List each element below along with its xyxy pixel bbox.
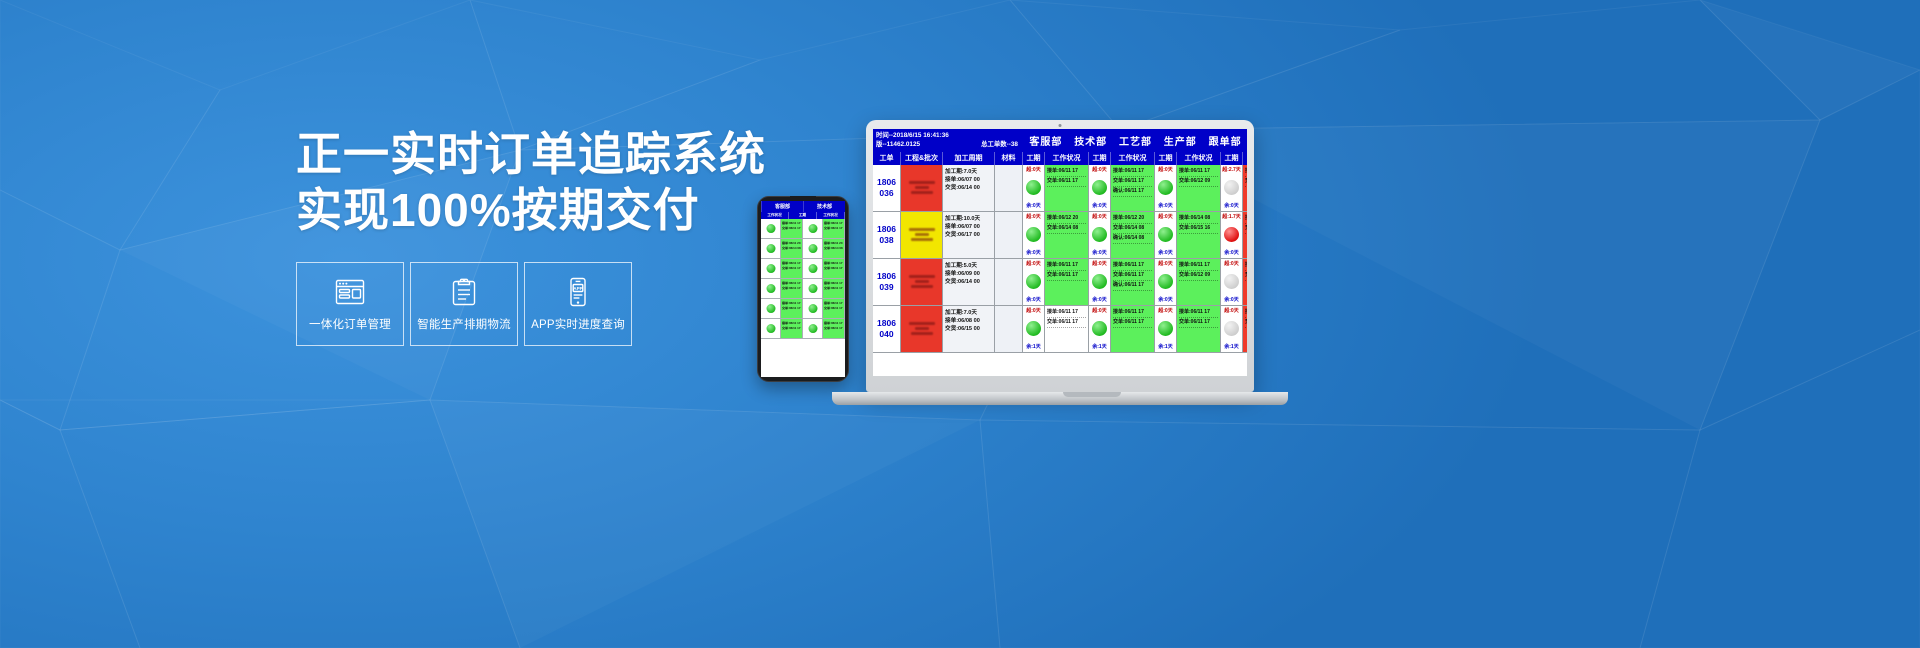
work-order-prefix: 1806: [877, 177, 896, 188]
work-order-suffix: 038: [879, 235, 893, 246]
phone-table-row[interactable]: 接单:06/11 17交单:06/11 17接单:06/11 17交单:06/1…: [761, 219, 845, 239]
over-days-tag: 超:0天: [1023, 167, 1044, 173]
phone-status-line-1: 交单:06/11 17: [824, 226, 843, 231]
redacted-text: [909, 228, 935, 231]
status-line-1: 交单:: [1245, 224, 1247, 234]
department-header-4: 跟单部: [1202, 129, 1247, 152]
status-line-1: 交单:: [1245, 177, 1247, 187]
over-days-tag: 超:0天: [1023, 261, 1044, 267]
over-days-tag: 超:0天: [1155, 308, 1176, 314]
status-line-1: 交单:06/12 09: [1179, 271, 1218, 281]
status-indicator-green[interactable]: [808, 284, 817, 293]
status-line-1: 交单:06/12 09: [1179, 177, 1218, 187]
status-line-0: 接单:06/12 20: [1047, 214, 1086, 224]
status-indicator-green[interactable]: [766, 284, 775, 293]
cell-project-batch: [901, 165, 943, 211]
feature-item-order-management[interactable]: 一体化订单管理: [296, 262, 404, 346]
status-line-0: 接单:06/11 17: [1113, 167, 1152, 177]
cell-duration-3: 超:0天余:0天: [1221, 259, 1243, 305]
redacted-text: [915, 327, 929, 330]
status-line-0: 接单:06/14 08: [1179, 214, 1218, 224]
cell-duration-1: 超:0天余:0天: [1089, 259, 1111, 305]
phone-col-header-2: 工作状况: [817, 212, 845, 219]
cell-status-3: 接单:06/15 16交单:: [1243, 212, 1247, 258]
phone-status-indicator-cell-2: [803, 259, 823, 278]
phone-col-header-0: 工作状况: [761, 212, 789, 219]
cell-duration-2: 超:0天余:0天: [1155, 165, 1177, 211]
status-indicator-red[interactable]: [1224, 227, 1239, 242]
status-indicator-green[interactable]: [766, 224, 775, 233]
phone-department-0: 客服部: [761, 201, 803, 212]
phone-status-cell: 接单:06/11 17交单:06/11 17: [781, 259, 803, 278]
cell-duration-0: 超:0天余:0天: [1023, 259, 1045, 305]
department-header-2: 工艺部: [1113, 129, 1158, 152]
phone-status-indicator-cell: [761, 259, 781, 278]
rest-days-tag: 余:0天: [1155, 297, 1176, 303]
col-header-duration-3: 工期: [1221, 152, 1243, 165]
rest-days-tag: 余:1天: [1221, 344, 1242, 350]
cell-duration-0: 超:0天余:0天: [1023, 165, 1045, 211]
status-line-1: 交单:06/11 17: [1113, 177, 1152, 187]
status-indicator-green[interactable]: [1026, 180, 1041, 195]
over-days-tag: 超:0天: [1089, 167, 1110, 173]
phone-body: 客服部技术部 工作状况工期工作状况 接单:06/11 17交单:06/11 17…: [757, 196, 849, 382]
cell-cycle: 加工期:10.0天接单:06/07 00交货:06/17 00: [943, 212, 995, 258]
rest-days-tag: 余:0天: [1155, 203, 1176, 209]
work-order-prefix: 1806: [877, 318, 896, 329]
cell-duration-2: 超:0天余:0天: [1155, 259, 1177, 305]
cycle-line-2: 交货:06/14 00: [945, 278, 992, 286]
laptop-mockup: 时间--2018/6/15 16:41:36 版--11462.0125 总工单…: [866, 120, 1318, 420]
status-indicator-green[interactable]: [1092, 274, 1107, 289]
over-days-tag: 超:0天: [1089, 214, 1110, 220]
phone-status-cell-2: 接单:06/11 17交单:06/11 17: [823, 219, 845, 238]
status-line-2: 确认:06/11 17: [1113, 187, 1152, 197]
status-indicator-green[interactable]: [808, 304, 817, 313]
work-order-suffix: 040: [879, 329, 893, 340]
cell-work-order: 1806038: [873, 212, 901, 258]
dashboard-window-icon: [334, 276, 366, 308]
status-indicator-green[interactable]: [766, 264, 775, 273]
status-indicator-green[interactable]: [766, 304, 775, 313]
status-indicator-green[interactable]: [1158, 321, 1173, 336]
over-days-tag: 超:0天: [1089, 308, 1110, 314]
department-header-3: 生产部: [1157, 129, 1202, 152]
col-header-duration-0: 工期: [1023, 152, 1045, 165]
cell-cycle: 加工期:7.0天接单:06/07 00交货:06/14 00: [943, 165, 995, 211]
status-indicator-grey[interactable]: [1224, 274, 1239, 289]
over-days-tag: 超:1.7天: [1221, 214, 1242, 220]
phone-status-line-1: 交单:06/11 17: [782, 306, 801, 311]
over-days-tag: 超:0天: [1155, 167, 1176, 173]
redacted-text: [915, 233, 929, 236]
redacted-text: [909, 181, 935, 184]
status-indicator-green[interactable]: [766, 324, 775, 333]
status-line-1: 交单:06/11 17: [1113, 318, 1152, 328]
over-days-tag: 超:0天: [1023, 214, 1044, 220]
status-line-0: 接单:06/11 17: [1113, 308, 1152, 318]
over-days-tag: 超:0天: [1155, 214, 1176, 220]
phone-status-indicator-cell-2: [803, 219, 823, 238]
col-header-status-2: 工作状况: [1177, 152, 1221, 165]
cell-status-3: 接单:交单:: [1243, 306, 1247, 352]
cell-cycle: 加工期:7.0天接单:06/08 00交货:06/15 00: [943, 306, 995, 352]
status-line-0: 接单:06/11 17: [1047, 167, 1086, 177]
cell-status-1: 接单:06/11 17交单:06/11 17确认:06/11 17: [1111, 259, 1155, 305]
status-indicator-green[interactable]: [1158, 227, 1173, 242]
dashboard-version: 版--11462.0125: [876, 140, 920, 149]
phone-status-indicator-cell: [761, 299, 781, 318]
status-indicator-grey[interactable]: [1224, 180, 1239, 195]
laptop-screen: 时间--2018/6/15 16:41:36 版--11462.0125 总工单…: [873, 129, 1247, 376]
phone-status-indicator-cell-2: [803, 319, 823, 338]
table-row[interactable]: 1806038加工期:10.0天接单:06/07 00交货:06/17 00超:…: [873, 212, 1247, 259]
status-line-0: 接单:06/11 17: [1047, 261, 1086, 271]
cycle-line-0: 加工期:10.0天: [945, 215, 992, 223]
over-days-tag: 超:0天: [1089, 261, 1110, 267]
headline-line-1: 正一实时订单追踪系统: [296, 126, 916, 182]
rest-days-tag: 余:1天: [1089, 344, 1110, 350]
cell-duration-0: 超:0天余:1天: [1023, 306, 1045, 352]
cell-status-2: 接单:06/11 17交单:06/12 09: [1177, 165, 1221, 211]
status-line-2: 确认:06/14 08: [1113, 234, 1152, 244]
rest-days-tag: 余:0天: [1155, 250, 1176, 256]
work-order-prefix: 1806: [877, 224, 896, 235]
status-line-1: 交单:06/15 16: [1179, 224, 1218, 234]
laptop-lid: 时间--2018/6/15 16:41:36 版--11462.0125 总工单…: [866, 120, 1254, 392]
phone-status-cell-2: 接单:06/11 17交单:06/11 17: [823, 259, 845, 278]
status-line-0: 接单:06/11 17: [1179, 308, 1218, 318]
phone-notch: [790, 196, 816, 201]
col-header-cycle: 加工周期: [943, 152, 995, 165]
phone-dashboard-body: 接单:06/11 17交单:06/11 17接单:06/11 17交单:06/1…: [761, 219, 845, 339]
status-line-2: 确认:06/11 17: [1113, 281, 1152, 291]
cycle-line-0: 加工期:7.0天: [945, 168, 992, 176]
phone-status-cell: 接单:06/11 17交单:06/11 17: [781, 279, 803, 298]
status-indicator-green[interactable]: [808, 324, 817, 333]
cell-status-3: 接单:06/12 09交单:: [1243, 259, 1247, 305]
phone-status-line-1: 交单:06/11 17: [824, 266, 843, 271]
phone-table-row[interactable]: 接单:06/11 17交单:06/11 17接单:06/11 17交单:06/1…: [761, 319, 845, 339]
status-line-0: 接单:06/12 09: [1245, 261, 1247, 271]
status-line-1: 交单:06/11 17: [1047, 177, 1086, 187]
phone-status-cell-2: 接单:06/11 17交单:06/11 17: [823, 279, 845, 298]
col-header-project: 工程&批次: [901, 152, 943, 165]
status-indicator-green[interactable]: [1158, 274, 1173, 289]
col-header-material: 材料: [995, 152, 1023, 165]
phone-table-row[interactable]: 接单:06/11 17交单:06/11 17接单:06/11 17交单:06/1…: [761, 279, 845, 299]
laptop-base: [832, 392, 1288, 405]
status-line-0: 接单:06/11 17: [1047, 308, 1086, 318]
cell-project-batch: [901, 306, 943, 352]
cell-status-1: 接单:06/12 20交单:06/14 08确认:06/14 08: [1111, 212, 1155, 258]
phone-status-cell: 接单:06/11 17交单:06/11 17: [781, 319, 803, 338]
status-indicator-green[interactable]: [808, 244, 817, 253]
phone-status-cell-2: 接单:06/11 17交单:06/11 17: [823, 319, 845, 338]
table-row[interactable]: 1806036加工期:7.0天接单:06/07 00交货:06/14 00超:0…: [873, 165, 1247, 212]
cell-duration-1: 超:0天余:0天: [1089, 165, 1111, 211]
status-indicator-green[interactable]: [1026, 321, 1041, 336]
work-order-suffix: 039: [879, 282, 893, 293]
col-header-status-1: 工作状况: [1111, 152, 1155, 165]
rest-days-tag: 余:0天: [1023, 203, 1044, 209]
cell-material: [995, 165, 1023, 211]
status-indicator-green[interactable]: [1158, 180, 1173, 195]
status-line-1: 交单:06/11 17: [1047, 271, 1086, 281]
cell-work-order: 1806040: [873, 306, 901, 352]
phone-col-header-1: 工期: [789, 212, 817, 219]
over-days-tag: 超:2.7天: [1221, 167, 1242, 173]
cycle-line-1: 接单:06/07 00: [945, 176, 992, 184]
over-days-tag: 超:0天: [1221, 261, 1242, 267]
status-line-1: 交单:06/11 17: [1179, 318, 1218, 328]
phone-status-line-1: 交单:06/11 17: [782, 286, 801, 291]
dashboard-top-bar: 时间--2018/6/15 16:41:36 版--11462.0125 总工单…: [873, 129, 1247, 152]
status-line-0: 接单:06/11 17: [1113, 261, 1152, 271]
status-line-0: 接单:06/11 17: [1179, 167, 1218, 177]
over-days-tag: 超:0天: [1221, 308, 1242, 314]
cell-duration-3: 超:0天余:1天: [1221, 306, 1243, 352]
phone-status-indicator-cell: [761, 219, 781, 238]
clipboard-icon: [450, 276, 478, 308]
feature-item-production-scheduling[interactable]: 智能生产排期物流: [410, 262, 518, 346]
mobile-app-icon: APP: [566, 276, 590, 308]
phone-screen: 客服部技术部 工作状况工期工作状况 接单:06/11 17交单:06/11 17…: [761, 201, 845, 377]
phone-status-cell-2: 接单:06/11 20交单:06/14 08: [823, 239, 845, 258]
cell-status-1: 接单:06/11 17交单:06/11 17确认:06/11 17: [1111, 165, 1155, 211]
status-line-0: 接单:06/12 09: [1245, 167, 1247, 177]
phone-table-row[interactable]: 接单:06/11 20交单:06/14 08接单:06/11 20交单:06/1…: [761, 239, 845, 259]
phone-table-row[interactable]: 接单:06/11 17交单:06/11 17接单:06/11 17交单:06/1…: [761, 299, 845, 319]
rest-days-tag: 余:0天: [1023, 250, 1044, 256]
status-line-1: 交单:: [1245, 271, 1247, 281]
status-line-0: 接单:06/11 17: [1179, 261, 1218, 271]
cell-cycle: 加工期:5.0天接单:06/09 00交货:06/14 00: [943, 259, 995, 305]
status-indicator-green[interactable]: [766, 244, 775, 253]
cycle-line-0: 加工期:7.0天: [945, 309, 992, 317]
phone-status-indicator-cell-2: [803, 239, 823, 258]
status-indicator-green[interactable]: [1092, 180, 1107, 195]
redacted-text: [911, 285, 933, 288]
phone-status-indicator-cell: [761, 279, 781, 298]
status-indicator-green[interactable]: [1092, 227, 1107, 242]
phone-status-cell: 接单:06/11 17交单:06/11 17: [781, 219, 803, 238]
department-header-1: 技术部: [1068, 129, 1113, 152]
phone-status-line-1: 交单:06/14 08: [782, 246, 801, 251]
status-line-0: 接单:06/12 20: [1113, 214, 1152, 224]
cell-duration-2: 超:0天余:0天: [1155, 212, 1177, 258]
col-header-duration-1: 工期: [1089, 152, 1111, 165]
dashboard-total-orders: 总工单数--38: [981, 140, 1018, 149]
phone-status-line-1: 交单:06/11 17: [824, 286, 843, 291]
phone-table-row[interactable]: 接单:06/11 17交单:06/11 17接单:06/11 17交单:06/1…: [761, 259, 845, 279]
status-line-1: 交单:06/11 17: [1047, 318, 1086, 328]
redacted-text: [915, 280, 929, 283]
cell-duration-3: 超:2.7天余:0天: [1221, 165, 1243, 211]
phone-status-indicator-cell: [761, 319, 781, 338]
rest-days-tag: 余:0天: [1089, 297, 1110, 303]
status-indicator-grey[interactable]: [1224, 321, 1239, 336]
redacted-text: [915, 186, 929, 189]
phone-column-header: 工作状况工期工作状况: [761, 212, 845, 219]
cell-project-batch: [901, 212, 943, 258]
col-header-duration-2: 工期: [1155, 152, 1177, 165]
phone-status-cell-2: 接单:06/11 17交单:06/11 17: [823, 299, 845, 318]
webcam-icon: [1059, 124, 1062, 127]
cycle-line-1: 接单:06/08 00: [945, 317, 992, 325]
cell-status-0: 接单:06/11 17交单:06/11 17: [1045, 306, 1089, 352]
status-line-1: 交单:06/14 08: [1047, 224, 1086, 234]
cell-status-3: 接单:06/12 09交单:: [1243, 165, 1247, 211]
work-order-suffix: 036: [879, 188, 893, 199]
over-days-tag: 超:0天: [1023, 308, 1044, 314]
cell-status-0: 接单:06/11 17交单:06/11 17: [1045, 259, 1089, 305]
status-line-1: 交单:06/11 17: [1113, 271, 1152, 281]
dashboard-meta: 时间--2018/6/15 16:41:36 版--11462.0125 总工单…: [873, 129, 1023, 152]
redacted-text: [911, 191, 933, 194]
phone-status-indicator-cell: [761, 239, 781, 258]
phone-department-header: 客服部技术部: [761, 201, 845, 212]
laptop-base-notch: [1063, 392, 1121, 397]
cell-duration-1: 超:0天余:1天: [1089, 306, 1111, 352]
phone-status-cell: 接单:06/11 20交单:06/14 08: [781, 239, 803, 258]
table-row[interactable]: 1806040加工期:7.0天接单:06/08 00交货:06/15 00超:0…: [873, 306, 1247, 353]
rest-days-tag: 余:0天: [1221, 297, 1242, 303]
col-header-work-order: 工单: [873, 152, 901, 165]
cycle-line-2: 交货:06/14 00: [945, 184, 992, 192]
status-indicator-green[interactable]: [1026, 274, 1041, 289]
redacted-text: [911, 332, 933, 335]
col-header-status-0: 工作状况: [1045, 152, 1089, 165]
phone-status-line-1: 交单:06/11 17: [824, 306, 843, 311]
rest-days-tag: 余:0天: [1089, 203, 1110, 209]
phone-status-line-1: 交单:06/14 08: [824, 246, 843, 251]
feature-item-app-progress-query[interactable]: APP APP实时进度查询: [524, 262, 632, 346]
cell-status-2: 接单:06/11 17交单:06/12 09: [1177, 259, 1221, 305]
table-row[interactable]: 1806039加工期:5.0天接单:06/09 00交货:06/14 00超:0…: [873, 259, 1247, 306]
cell-status-2: 接单:06/14 08交单:06/15 16: [1177, 212, 1221, 258]
phone-department-1: 技术部: [803, 201, 845, 212]
rest-days-tag: 余:1天: [1155, 344, 1176, 350]
phone-status-cell: 接单:06/11 17交单:06/11 17: [781, 299, 803, 318]
rest-days-tag: 余:0天: [1023, 297, 1044, 303]
feature-label: APP实时进度查询: [531, 316, 625, 332]
phone-status-line-1: 交单:06/11 17: [782, 226, 801, 231]
dashboard-time: 时间--2018/6/15 16:41:36: [876, 131, 1020, 140]
cell-duration-3: 超:1.7天余:0天: [1221, 212, 1243, 258]
svg-text:APP: APP: [573, 286, 582, 291]
phone-dashboard: 客服部技术部 工作状况工期工作状况 接单:06/11 17交单:06/11 17…: [761, 201, 845, 377]
redacted-text: [909, 275, 935, 278]
phone-status-indicator-cell-2: [803, 299, 823, 318]
phone-status-indicator-cell-2: [803, 279, 823, 298]
col-header-status-3: 工作状况: [1243, 152, 1247, 165]
cell-material: [995, 306, 1023, 352]
feature-label: 智能生产排期物流: [417, 316, 511, 332]
cell-status-1: 接单:06/11 17交单:06/11 17: [1111, 306, 1155, 352]
phone-status-line-1: 交单:06/11 17: [782, 266, 801, 271]
cell-status-0: 接单:06/12 20交单:06/14 08: [1045, 212, 1089, 258]
cell-project-batch: [901, 259, 943, 305]
status-indicator-green[interactable]: [808, 264, 817, 273]
status-indicator-green[interactable]: [808, 224, 817, 233]
cell-work-order: 1806039: [873, 259, 901, 305]
status-line-1: 交单:06/14 08: [1113, 224, 1152, 234]
work-order-prefix: 1806: [877, 271, 896, 282]
cycle-line-1: 接单:06/09 00: [945, 270, 992, 278]
cycle-line-0: 加工期:5.0天: [945, 262, 992, 270]
production-dashboard: 时间--2018/6/15 16:41:36 版--11462.0125 总工单…: [873, 129, 1247, 376]
rest-days-tag: 余:1天: [1023, 344, 1044, 350]
cycle-line-2: 交货:06/17 00: [945, 231, 992, 239]
phone-status-line-1: 交单:06/11 17: [782, 326, 801, 331]
cell-duration-0: 超:0天余:0天: [1023, 212, 1045, 258]
department-header-0: 客服部: [1023, 129, 1068, 152]
cycle-line-1: 接单:06/07 00: [945, 223, 992, 231]
rest-days-tag: 余:0天: [1221, 203, 1242, 209]
rest-days-tag: 余:0天: [1089, 250, 1110, 256]
cell-duration-2: 超:0天余:1天: [1155, 306, 1177, 352]
status-line-1: 交单:: [1245, 318, 1247, 328]
phone-status-line-1: 交单:06/11 17: [824, 326, 843, 331]
cell-status-0: 接单:06/11 17交单:06/11 17: [1045, 165, 1089, 211]
redacted-text: [909, 322, 935, 325]
rest-days-tag: 余:0天: [1221, 250, 1242, 256]
cell-material: [995, 259, 1023, 305]
status-line-0: 接单:06/15 16: [1245, 214, 1247, 224]
status-line-0: 接单:: [1245, 308, 1247, 318]
cycle-line-2: 交货:06/15 00: [945, 325, 992, 333]
status-indicator-green[interactable]: [1026, 227, 1041, 242]
cell-status-2: 接单:06/11 17交单:06/11 17: [1177, 306, 1221, 352]
status-indicator-green[interactable]: [1092, 321, 1107, 336]
feature-label: 一体化订单管理: [309, 316, 391, 332]
cell-work-order: 1806036: [873, 165, 901, 211]
dashboard-body: 1806036加工期:7.0天接单:06/07 00交货:06/14 00超:0…: [873, 165, 1247, 353]
redacted-text: [911, 238, 933, 241]
over-days-tag: 超:0天: [1155, 261, 1176, 267]
phone-mockup: 客服部技术部 工作状况工期工作状况 接单:06/11 17交单:06/11 17…: [757, 196, 849, 382]
dashboard-column-header: 工单 工程&批次 加工周期 材料 工期工作状况工期工作状况工期工作状况工期工作状…: [873, 152, 1247, 165]
cell-material: [995, 212, 1023, 258]
cell-duration-1: 超:0天余:0天: [1089, 212, 1111, 258]
